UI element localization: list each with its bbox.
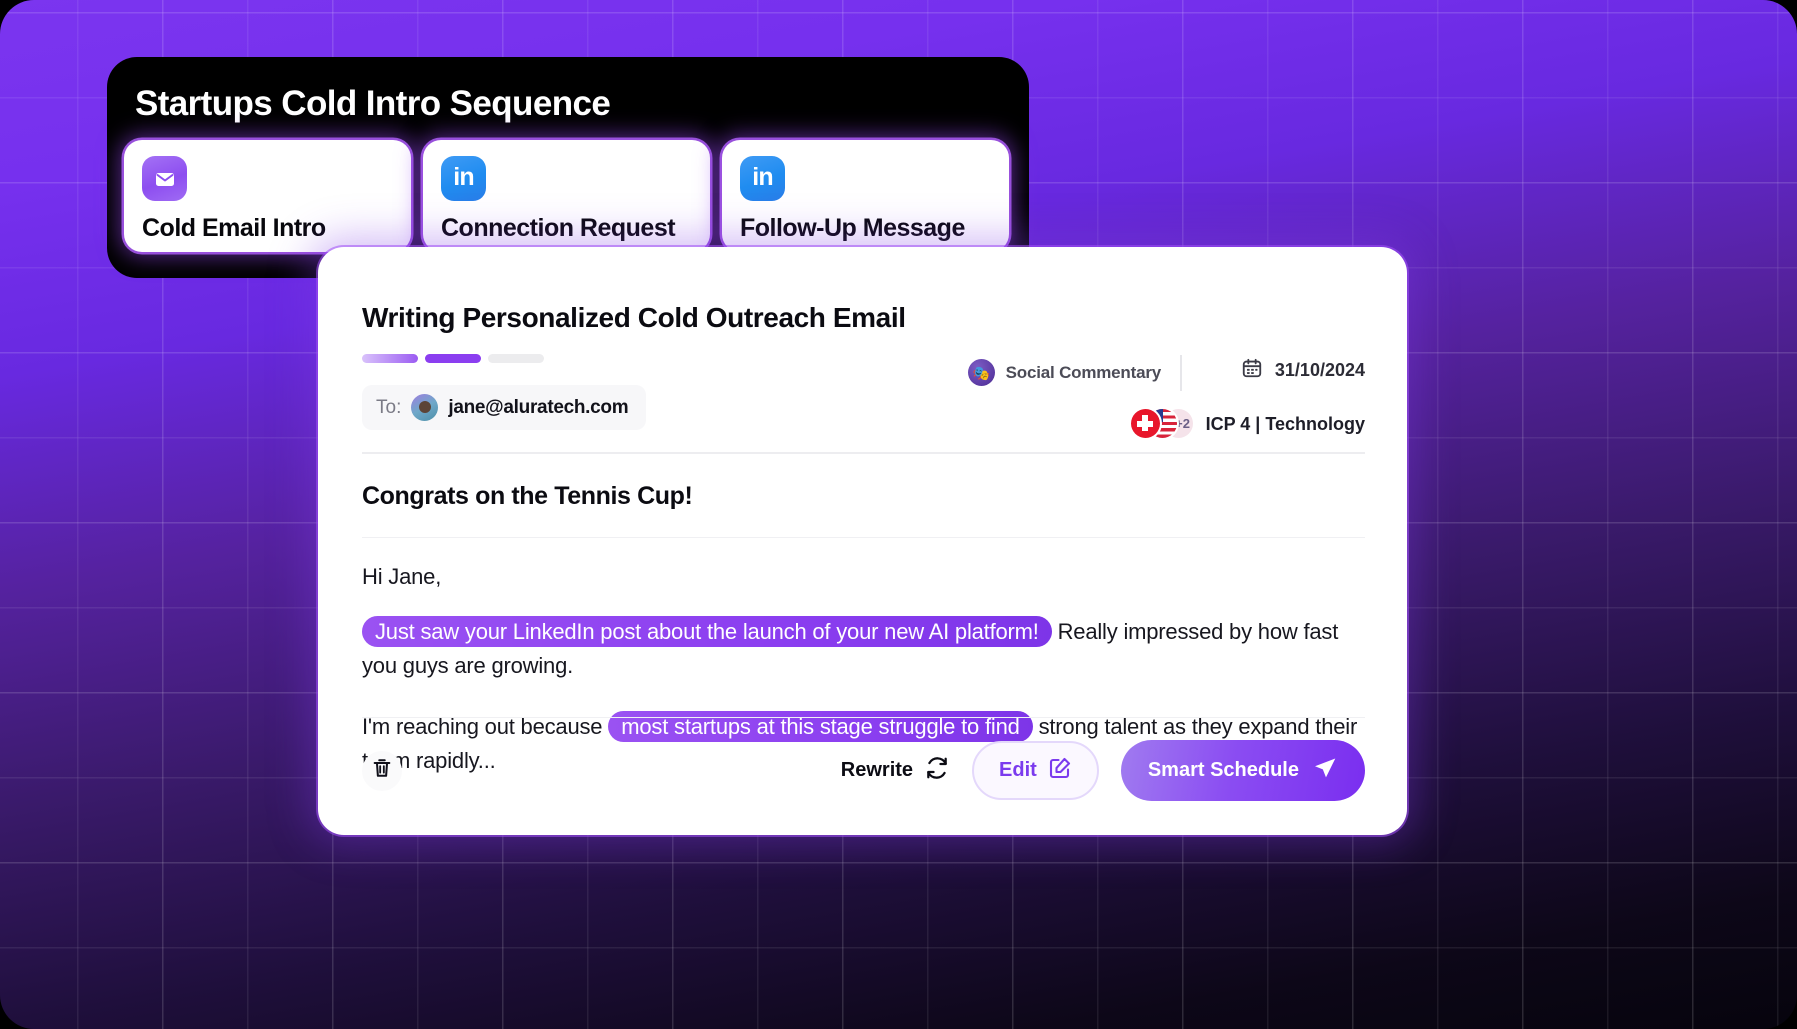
divider [362, 452, 1365, 454]
recipient-field[interactable]: To: jane@aluratech.com [362, 385, 646, 430]
category-label: Social Commentary [1006, 363, 1161, 383]
rewrite-button[interactable]: Rewrite [841, 755, 950, 786]
avatar [411, 394, 438, 421]
theater-masks-icon: 🎭 [968, 359, 995, 386]
sequence-step-connection-request[interactable]: in Connection Request [423, 140, 710, 252]
email-paragraph-one: Just saw your LinkedIn post about the la… [362, 615, 1365, 682]
calendar-icon [1241, 357, 1263, 384]
sequence-step-cold-email-intro[interactable]: Cold Email Intro [124, 140, 411, 252]
progress-indicator [362, 354, 1365, 363]
smart-schedule-label: Smart Schedule [1148, 759, 1299, 782]
page-title: Writing Personalized Cold Outreach Email [362, 302, 1365, 334]
date-value: 31/10/2024 [1275, 360, 1365, 381]
sequence-step-label: Follow-Up Message [740, 214, 991, 243]
date-badge[interactable]: 31/10/2024 [1241, 357, 1365, 384]
progress-segment-1 [362, 354, 418, 363]
icp-badge[interactable]: ★ +2 ICP 4 | Technology [1131, 409, 1365, 439]
rewrite-label: Rewrite [841, 759, 913, 782]
refresh-icon [924, 755, 950, 786]
highlight-personalization: Just saw your LinkedIn post about the la… [362, 616, 1052, 647]
linkedin-icon: in [441, 156, 486, 201]
sequence-step-label: Cold Email Intro [142, 214, 393, 243]
pencil-edit-icon [1048, 756, 1072, 785]
send-paper-plane-icon [1312, 755, 1338, 786]
meta-divider [1180, 355, 1182, 391]
mail-icon [142, 156, 187, 201]
sequence-panel: Startups Cold Intro Sequence Cold Email … [107, 57, 1029, 278]
sequence-step-label: Connection Request [441, 214, 692, 243]
sequence-step-list: Cold Email Intro in Connection Request i… [124, 140, 1009, 252]
progress-segment-3 [488, 354, 544, 363]
icp-label: ICP 4 | Technology [1206, 414, 1365, 435]
smart-schedule-button[interactable]: Smart Schedule [1121, 740, 1365, 801]
recipient-to-label: To: [376, 397, 401, 419]
switzerland-flag-icon [1131, 409, 1160, 438]
linkedin-glyph: in [752, 165, 773, 193]
country-flag-stack: ★ +2 [1131, 409, 1193, 439]
edit-label: Edit [999, 759, 1037, 782]
email-subject: Congrats on the Tennis Cup! [362, 482, 1365, 511]
divider-secondary [362, 537, 1365, 539]
sequence-title: Startups Cold Intro Sequence [135, 85, 1029, 124]
sequence-step-follow-up-message[interactable]: in Follow-Up Message [722, 140, 1009, 252]
card-footer: Rewrite Edit [362, 717, 1365, 801]
trash-icon [371, 757, 393, 784]
progress-segment-2 [425, 354, 481, 363]
delete-button[interactable] [362, 751, 402, 791]
category-badge[interactable]: 🎭 Social Commentary [968, 359, 1161, 386]
app-canvas: Startups Cold Intro Sequence Cold Email … [0, 0, 1797, 1029]
linkedin-glyph: in [453, 165, 474, 193]
recipient-email: jane@aluratech.com [448, 397, 628, 419]
footer-actions: Rewrite Edit [841, 740, 1365, 801]
edit-button[interactable]: Edit [972, 741, 1099, 800]
linkedin-icon: in [740, 156, 785, 201]
email-composer-card: Writing Personalized Cold Outreach Email… [318, 247, 1407, 835]
email-greeting: Hi Jane, [362, 560, 1365, 593]
